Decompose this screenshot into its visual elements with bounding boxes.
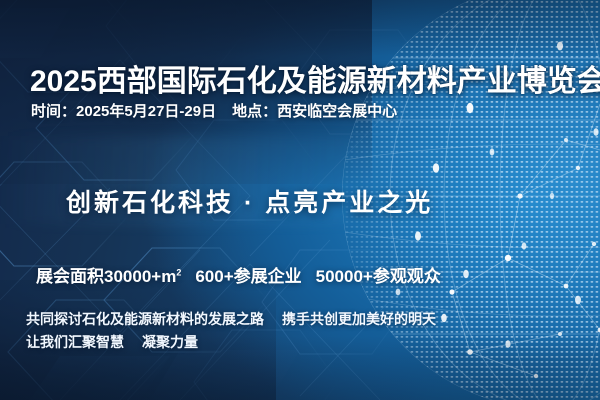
date-label: 时间： [31, 103, 76, 120]
stat-exhibitors: 600+参展企业 [195, 267, 301, 286]
tagline-2a: 让我们汇聚智慧 [26, 334, 124, 350]
tagline-line-1: 共同探讨石化及能源新材料的发展之路携手共创更加美好的明天 [26, 308, 436, 331]
banner-slogan: 创新石化科技 · 点亮产业之光 [66, 183, 433, 219]
stat-area: 展会面积30000+m [36, 267, 176, 286]
banner-title: 2025西部国际石化及能源新材料产业博览会 [30, 56, 600, 100]
tagline-1b: 携手共创更加美好的明天 [282, 311, 436, 327]
venue-label: 地点： [232, 103, 277, 120]
stat-area-superscript: 2 [176, 267, 181, 277]
exhibition-banner: 2025西部国际石化及能源新材料产业博览会 时间：2025年5月27日-29日地… [0, 0, 600, 400]
banner-stats: 展会面积30000+m2600+参展企业50000+参观观众 [36, 262, 441, 287]
tagline-line-2: 让我们汇聚智慧凝聚力量 [26, 331, 436, 354]
venue-value: 西安临空会展中心 [277, 103, 397, 120]
tagline-2b: 凝聚力量 [142, 334, 198, 350]
banner-content: 2025西部国际石化及能源新材料产业博览会 时间：2025年5月27日-29日地… [0, 0, 600, 400]
banner-taglines: 共同探讨石化及能源新材料的发展之路携手共创更加美好的明天 让我们汇聚智慧凝聚力量 [26, 308, 436, 354]
tagline-1a: 共同探讨石化及能源新材料的发展之路 [26, 311, 264, 327]
date-value: 2025年5月27日-29日 [76, 103, 216, 120]
banner-meta: 时间：2025年5月27日-29日地点：西安临空会展中心 [31, 100, 397, 121]
stat-visitors: 50000+参观观众 [316, 267, 441, 286]
